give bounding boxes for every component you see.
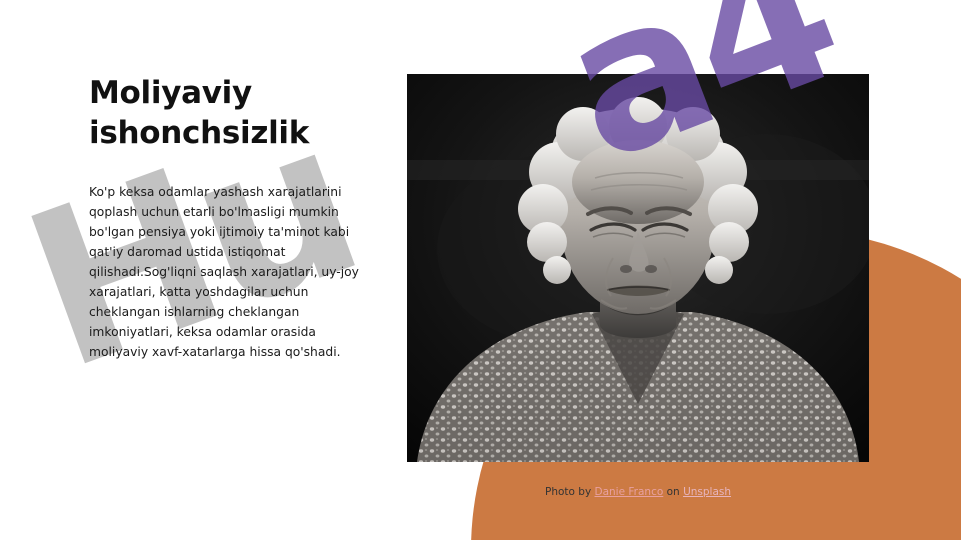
presentation-slide: Hu Moliyaviy ishonchsizlik Ko'p keksa od… <box>0 0 961 540</box>
portrait-photo <box>407 74 869 462</box>
credit-source-link[interactable]: Unsplash <box>683 486 731 498</box>
photo-credit: Photo by Danie Franco on Unsplash <box>407 486 869 498</box>
portrait-photo-image <box>407 74 869 462</box>
slide-title: Moliyaviy ishonchsizlik <box>89 74 374 153</box>
credit-middle: on <box>667 486 680 498</box>
slide-body-paragraph: Ko'p keksa odamlar yashash xarajatlarini… <box>89 183 374 362</box>
credit-author-link[interactable]: Danie Franco <box>595 486 664 498</box>
text-column: Moliyaviy ishonchsizlik Ko'p keksa odaml… <box>89 74 374 363</box>
credit-prefix: Photo by <box>545 486 591 498</box>
